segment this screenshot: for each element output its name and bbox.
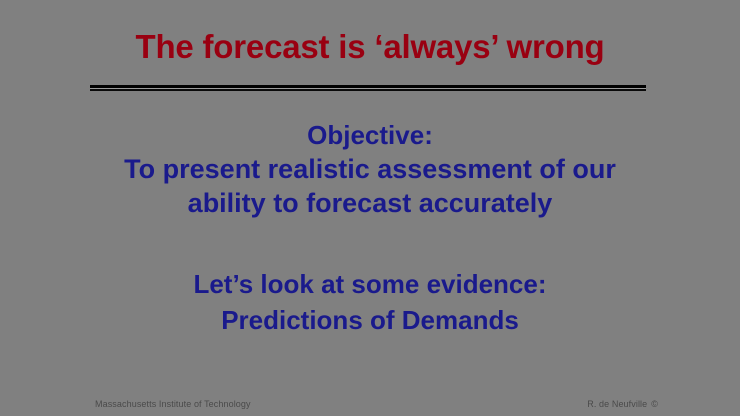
objective-text-block: Objective: To present realistic assessme… — [0, 118, 740, 220]
objective-line-2: ability to forecast accurately — [0, 186, 740, 220]
evidence-line-1: Let’s look at some evidence: — [0, 266, 740, 302]
footer-author-name: R. de Neufville — [587, 399, 647, 409]
objective-heading: Objective: — [0, 118, 740, 152]
copyright-icon: © — [651, 399, 658, 409]
evidence-text-block: Let’s look at some evidence: Predictions… — [0, 266, 740, 338]
slide-canvas: The forecast is ‘always’ wrong Objective… — [0, 0, 740, 416]
footer-author-credit: R. de Neufville© — [587, 399, 658, 409]
evidence-line-2: Predictions of Demands — [0, 302, 740, 338]
slide-title: The forecast is ‘always’ wrong — [0, 26, 740, 68]
objective-line-1: To present realistic assessment of our — [0, 152, 740, 186]
footer-institution: Massachusetts Institute of Technology — [95, 399, 251, 409]
title-divider-rule — [90, 85, 646, 92]
divider-line-bottom — [90, 89, 646, 91]
